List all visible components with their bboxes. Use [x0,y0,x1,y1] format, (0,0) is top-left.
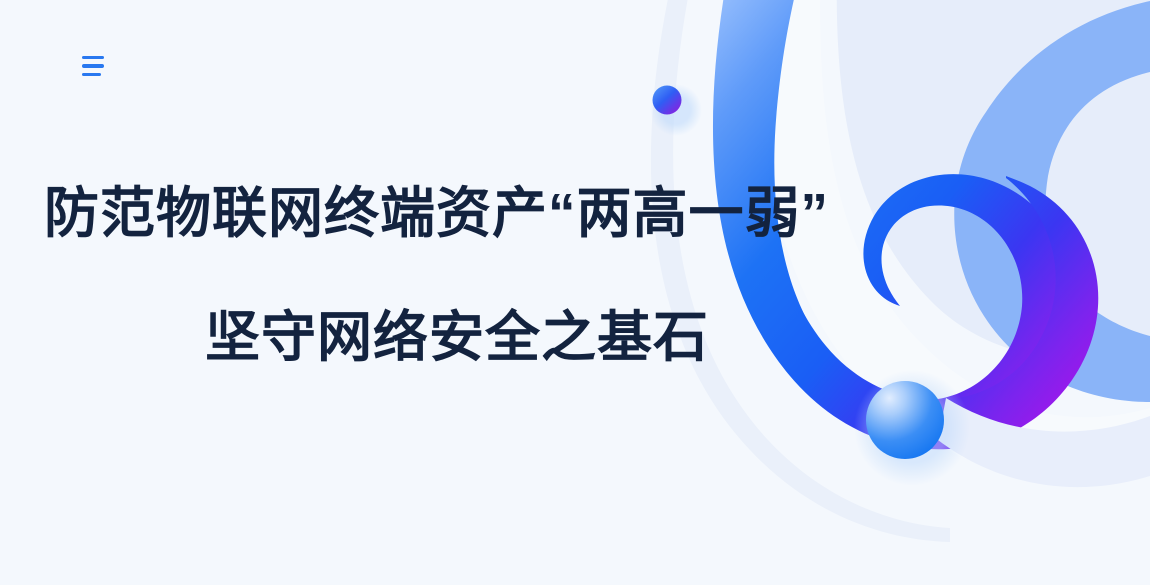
pale-blue-arc-shape [837,0,1150,360]
hamburger-bar-top [82,56,104,60]
large-blue-sphere [866,381,944,459]
title-line-primary: 防范物联网终端资产“两高一弱” [44,186,880,241]
hamburger-bar-bottom [82,73,101,77]
light-blue-arc-shape [954,1,1150,402]
pale-band-tail [938,398,1150,487]
slide-canvas: 防范物联网终端资产“两高一弱” 坚守网络安全之基石 [0,0,1150,585]
small-sphere-glow [650,84,702,136]
hamburger-bar-middle [82,64,104,68]
hamburger-menu-button[interactable] [82,50,114,82]
title-line-secondary: 坚守网络安全之基石 [205,310,880,365]
large-sphere-glow [854,370,970,486]
small-gradient-sphere [653,86,682,115]
title-block: 防范物联网终端资产“两高一弱” 坚守网络安全之基石 [0,186,880,365]
